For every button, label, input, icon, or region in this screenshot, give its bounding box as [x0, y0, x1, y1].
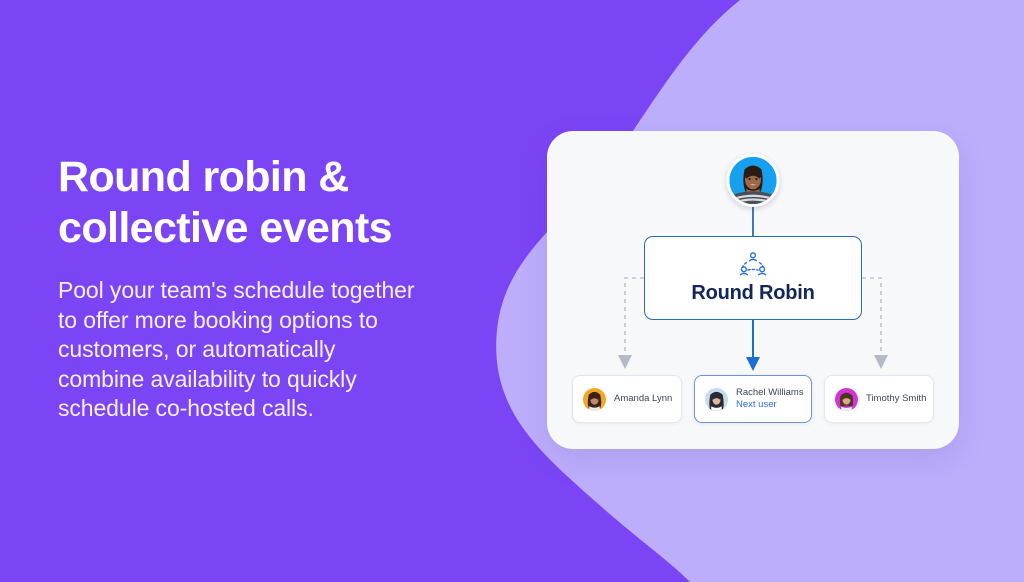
arrowhead-right — [874, 355, 888, 369]
user-text-timothy-smith: Timothy Smith — [866, 394, 924, 405]
page-description: Pool your team's schedule together to of… — [58, 276, 478, 424]
user-name: Timothy Smith — [866, 394, 924, 405]
user-text-amanda-lynn: Amanda Lynn — [614, 394, 672, 405]
user-card-timothy-smith[interactable]: Timothy Smith — [824, 375, 934, 423]
owner-avatar[interactable] — [727, 154, 780, 207]
marketing-copy: Round robin & collective events Pool you… — [58, 152, 478, 424]
avatar-timothy-smith — [834, 387, 859, 412]
person-photo-icon — [730, 157, 777, 204]
avatar-amanda-lynn — [582, 387, 607, 412]
user-text-rachel-williams: Rachel Williams Next user — [736, 388, 802, 411]
connector-dashed-right — [862, 278, 881, 355]
arrowhead-center — [746, 357, 760, 371]
connector-dashed-left — [625, 278, 644, 355]
avatar-rachel-williams — [704, 387, 729, 412]
arrowhead-left — [618, 355, 632, 369]
round-robin-label: Round Robin — [691, 282, 814, 305]
user-card-row: Amanda Lynn Rachel Williams Next user — [572, 375, 934, 423]
diagram-card: Round Robin Amanda Lynn — [547, 131, 959, 449]
user-status-next-user: Next user — [736, 400, 802, 411]
round-robin-users-icon — [738, 251, 768, 279]
round-robin-node[interactable]: Round Robin — [644, 236, 862, 320]
user-card-amanda-lynn[interactable]: Amanda Lynn — [572, 375, 682, 423]
user-name: Amanda Lynn — [614, 394, 672, 405]
page-title: Round robin & collective events — [58, 152, 478, 254]
user-name: Rachel Williams — [736, 388, 802, 399]
user-card-rachel-williams[interactable]: Rachel Williams Next user — [694, 375, 812, 423]
